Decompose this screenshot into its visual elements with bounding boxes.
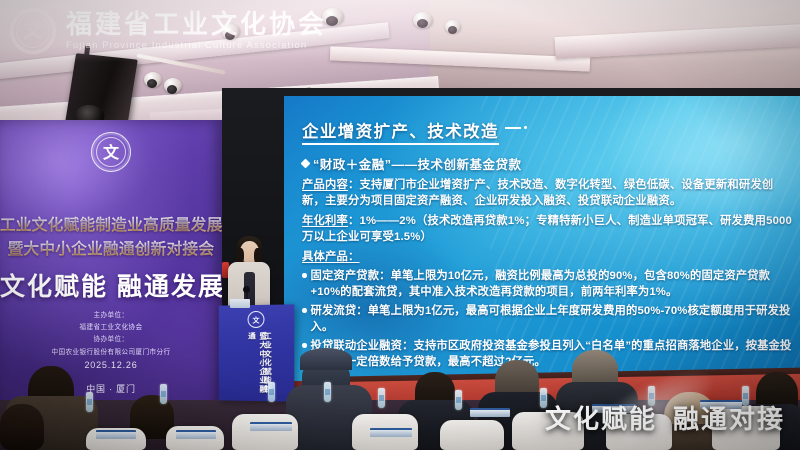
poster-date: 2025.12.26 — [0, 360, 222, 370]
desk-name-card — [96, 430, 136, 439]
association-name-block: 福建省工业文化协会 Fujian Province Industrial Cul… — [66, 11, 327, 51]
overlay-slogan: 文化赋能融通对接 — [545, 399, 785, 436]
water-bottle — [268, 382, 275, 402]
logo-glyph: 文 — [11, 22, 55, 41]
overlay-slogan-left: 文化赋能 — [545, 404, 657, 434]
slide-content: 企业增资扩产、技术改造 “财政＋金融”——技术创新基金贷款 产品内容：支持厦门市… — [302, 118, 794, 370]
slide-rate-paragraph: 年化利率：1%——2%（技术改造再贷款1%；专精特新小巨人、制造业单项冠军、研发… — [302, 213, 794, 245]
title-dot-decoration — [524, 126, 527, 129]
desk-name-card — [370, 428, 412, 437]
list-item-text: 研发流贷：单笔上限为1亿元，最高可根据企业上年度研发费用的50%-70%核定额度… — [311, 303, 795, 335]
slide-detail-label: 具体产品： — [302, 249, 794, 265]
conference-chair — [440, 420, 504, 450]
product-label: 产品内容 — [302, 179, 348, 191]
poster-title-line2: 暨大中小企业融通创新对接会 — [0, 237, 222, 259]
desk-name-card — [176, 430, 216, 439]
list-item-text: 投贷联动企业融资：支持市区政府投资基金参投且列入“白名单”的重点招商落地企业，按… — [311, 338, 795, 370]
association-logo-icon: 福建省工业文化协会 文 — [10, 8, 56, 54]
diamond-bullet-icon — [301, 159, 311, 169]
slide-product-paragraph: 产品内容：支持厦门市企业增资扩产、技术改造、数字化转型、绿色低碳、设备更新和研发… — [302, 177, 794, 209]
overlay-slogan-right: 融通对接 — [673, 404, 785, 434]
list-item: 投贷联动企业融资：支持市区政府投资基金参投且列入“白名单”的重点招商落地企业，按… — [302, 338, 794, 370]
organizer-label: 主办单位： — [0, 310, 222, 322]
organizer-name: 福建省工业文化协会 — [0, 322, 222, 334]
product-text: ：支持厦门市企业增资扩产、技术改造、数字化转型、绿色低碳、设备更新和研发创新，主… — [302, 179, 773, 207]
water-bottle — [324, 382, 331, 402]
list-item: 研发流贷：单笔上限为1亿元，最高可根据企业上年度研发费用的50%-70%核定额度… — [302, 303, 794, 335]
podium-emblem-icon: 文 — [248, 311, 265, 328]
poster-slogan: 文化赋能 融通发展 — [0, 267, 222, 303]
podium-text-left: 暨大中小企业融通 — [246, 332, 269, 398]
round-bullet-icon — [302, 308, 307, 313]
title-dash-decoration — [505, 127, 521, 129]
spotlight-lens — [167, 85, 177, 94]
poster-emblem-icon: 文 — [91, 132, 131, 172]
lectern-podium: 文 工业文化赋能制 暨大中小企业融通 — [219, 304, 295, 401]
association-name-cn: 福建省工业文化协会 — [66, 11, 327, 39]
water-bottle — [160, 384, 167, 404]
co-organizer-label: 协办单位： — [0, 334, 222, 346]
conference-chair — [232, 414, 298, 450]
desk-name-card — [250, 422, 292, 431]
detail-label: 具体产品： — [302, 251, 360, 263]
desk-name-card — [470, 408, 510, 417]
list-item: 固定资产贷款：单笔上限为10亿元，融资比例最高为总投的90%，包含80%的固定资… — [302, 268, 794, 300]
poster-title-line1: 工业文化赋能制造业高质量发展 — [0, 213, 222, 235]
list-item-text: 固定资产贷款：单笔上限为10亿元，融资比例最高为总投的90%，包含80%的固定资… — [311, 268, 795, 300]
microphone-icon — [243, 286, 250, 293]
slide-bullet-heading: “财政＋金融”——技术创新基金贷款 — [313, 154, 522, 173]
poster-organizers: 主办单位： 福建省工业文化协会 协办单位： 中国农业银行股份有限公司厦门市分行 — [0, 310, 222, 359]
slide-item-list: 固定资产贷款：单笔上限为10亿元，融资比例最高为总投的90%，包含80%的固定资… — [302, 268, 794, 370]
water-bottle — [378, 388, 385, 408]
podium-emblem-glyph: 文 — [249, 316, 264, 323]
led-presentation-screen: 企业增资扩产、技术改造 “财政＋金融”——技术创新基金贷款 产品内容：支持厦门市… — [284, 96, 800, 381]
logo-arc-text: 福建省工业文化协会 — [11, 14, 55, 19]
spotlight-lens — [147, 79, 157, 88]
round-bullet-icon — [302, 273, 307, 278]
slide-bullet-heading-row: “财政＋金融”——技术创新基金贷款 — [302, 154, 794, 173]
association-name-en: Fujian Province Industrial Culture Assoc… — [66, 40, 327, 51]
podium-paper — [230, 299, 250, 308]
co-organizer-name: 中国农业银行股份有限公司厦门市分行 — [0, 347, 222, 359]
audience-head — [0, 404, 44, 450]
slide-title: 企业增资扩产、技术改造 — [302, 118, 499, 145]
round-bullet-icon — [302, 343, 307, 348]
audience-cap-crown — [300, 348, 352, 370]
water-bottle — [86, 392, 93, 412]
rate-label: 年化利率 — [302, 215, 348, 227]
water-bottle — [455, 390, 462, 410]
poster-emblem-glyph: 文 — [92, 145, 130, 161]
header-banner: 福建省工业文化协会 文 福建省工业文化协会 Fujian Province In… — [0, 0, 800, 62]
rate-text: ：1%——2%（技术改造再贷款1%；专精特新小巨人、制造业单项冠军、研发费用50… — [302, 215, 792, 243]
conference-photo: 文 工业文化赋能制造业高质量发展 暨大中小企业融通创新对接会 文化赋能 融通发展… — [0, 0, 800, 450]
